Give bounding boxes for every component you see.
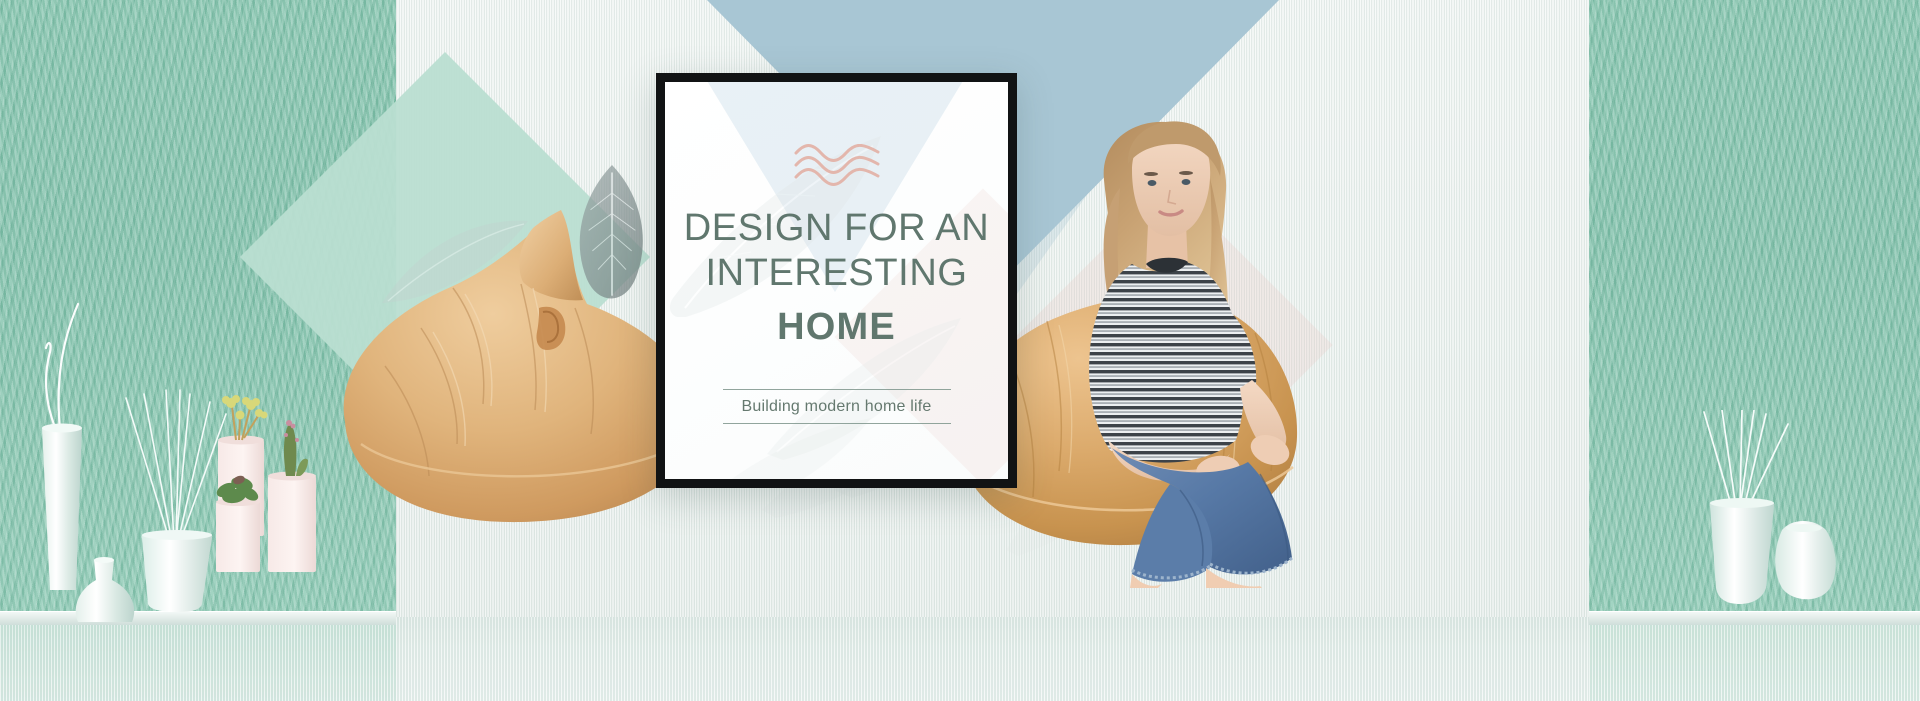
poster-canvas: DESIGN FOR AN INTERESTING HOME Building … xyxy=(665,82,1008,479)
pink-waves-decoration-icon xyxy=(793,144,881,186)
hero-banner: DESIGN FOR AN INTERESTING HOME Building … xyxy=(0,0,1920,701)
bean-bag-chair-left xyxy=(325,208,708,530)
tagline-rule-top xyxy=(723,389,951,390)
poster-tagline-block: Building modern home life xyxy=(723,389,951,424)
left-decor-vases-group xyxy=(20,290,330,626)
seated-woman-model xyxy=(1020,118,1340,588)
floor-left-section xyxy=(0,617,396,701)
floor-right-section xyxy=(1589,617,1920,701)
tagline-rule-bottom xyxy=(723,423,951,424)
poster-headline-accent: HOME xyxy=(777,305,896,349)
poster-headline-line2: INTERESTING xyxy=(705,251,967,296)
poster-content: DESIGN FOR AN INTERESTING HOME Building … xyxy=(665,82,1008,479)
poster-tagline: Building modern home life xyxy=(723,390,951,423)
right-decor-vases-group xyxy=(1670,410,1910,625)
poster-frame: DESIGN FOR AN INTERESTING HOME Building … xyxy=(656,73,1017,488)
poster-headline-line1: DESIGN FOR AN xyxy=(684,206,990,251)
